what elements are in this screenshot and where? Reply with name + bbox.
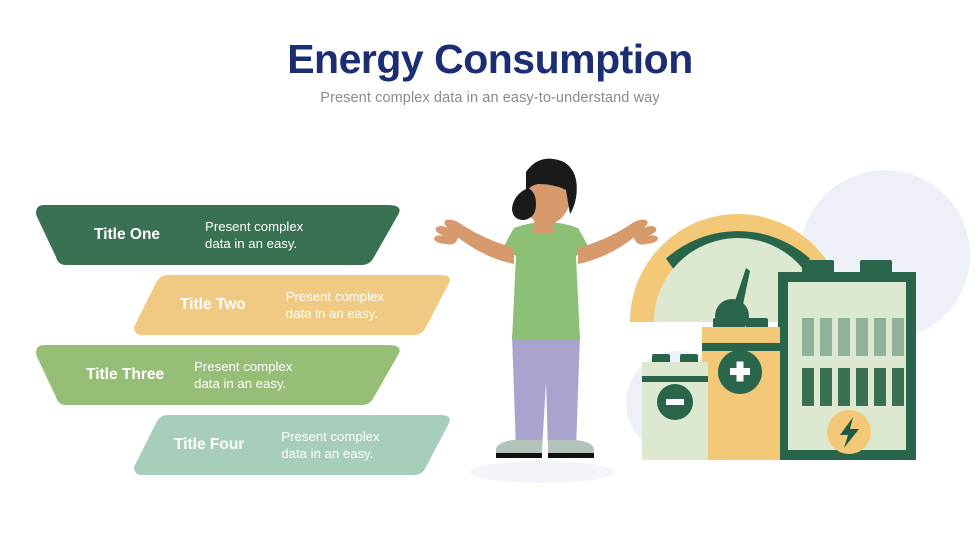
slide: Energy Consumption Present complex data … — [0, 0, 980, 551]
banner-bar-list: Title One Present complex data in an eas… — [0, 0, 470, 551]
banner-bar-three-content: Title Three Present complex data in an e… — [36, 345, 404, 405]
small-battery — [642, 354, 708, 460]
large-battery-bar-bottom-6 — [892, 368, 904, 406]
person-figure — [434, 159, 658, 458]
banner-bar-one[interactable]: Title One Present complex data in an eas… — [36, 205, 404, 265]
large-battery-bar-bottom-5 — [874, 368, 886, 406]
banner-bar-four-content: Title Four Present complex data in an ea… — [134, 415, 454, 475]
large-battery-bar-bottom-3 — [838, 368, 850, 406]
large-battery-bar-top-2 — [820, 318, 832, 356]
banner-bar-one-title: Title One — [94, 226, 160, 244]
minus-icon — [666, 399, 684, 405]
banner-bar-two[interactable]: Title Two Present complex data in an eas… — [134, 275, 454, 335]
person-shoe-left-sole — [496, 453, 542, 458]
ground-shadow — [470, 461, 614, 483]
person-ponytail — [512, 188, 536, 220]
banner-bar-four-desc: Present complex data in an easy. — [281, 428, 379, 462]
large-battery-bar-top-1 — [802, 318, 814, 356]
banner-bar-two-desc: Present complex data in an easy. — [286, 288, 384, 322]
large-battery-bar-top-6 — [892, 318, 904, 356]
large-battery — [778, 260, 916, 460]
person-shoe-right-sole — [548, 453, 594, 458]
plus-icon-vertical — [737, 362, 744, 382]
banner-bar-one-desc: Present complex data in an easy. — [205, 218, 303, 252]
banner-bar-three-desc: Present complex data in an easy. — [194, 358, 292, 392]
banner-bar-two-content: Title Two Present complex data in an eas… — [134, 275, 454, 335]
banner-bar-four[interactable]: Title Four Present complex data in an ea… — [134, 415, 454, 475]
small-battery-stripe — [642, 376, 708, 382]
banner-bar-three-title: Title Three — [86, 366, 164, 384]
large-battery-terminal-right — [860, 260, 892, 274]
large-battery-bar-top-3 — [838, 318, 850, 356]
person-pants — [512, 335, 580, 450]
large-battery-bar-top-5 — [874, 318, 886, 356]
large-battery-bar-bottom-2 — [820, 368, 832, 406]
person-hand-right — [628, 220, 658, 245]
banner-bar-three[interactable]: Title Three Present complex data in an e… — [36, 345, 404, 405]
medium-battery — [702, 318, 780, 460]
banner-bar-two-title: Title Two — [180, 296, 246, 314]
medium-battery-stripe — [702, 343, 780, 351]
banner-bar-four-title: Title Four — [174, 436, 244, 454]
large-battery-terminal-left — [802, 260, 834, 274]
banner-bar-one-content: Title One Present complex data in an eas… — [36, 205, 404, 265]
large-battery-bar-top-4 — [856, 318, 868, 356]
large-battery-bar-bottom-4 — [856, 368, 868, 406]
large-battery-bar-bottom-1 — [802, 368, 814, 406]
person-hand-left — [434, 220, 464, 245]
energy-illustration — [430, 150, 980, 510]
